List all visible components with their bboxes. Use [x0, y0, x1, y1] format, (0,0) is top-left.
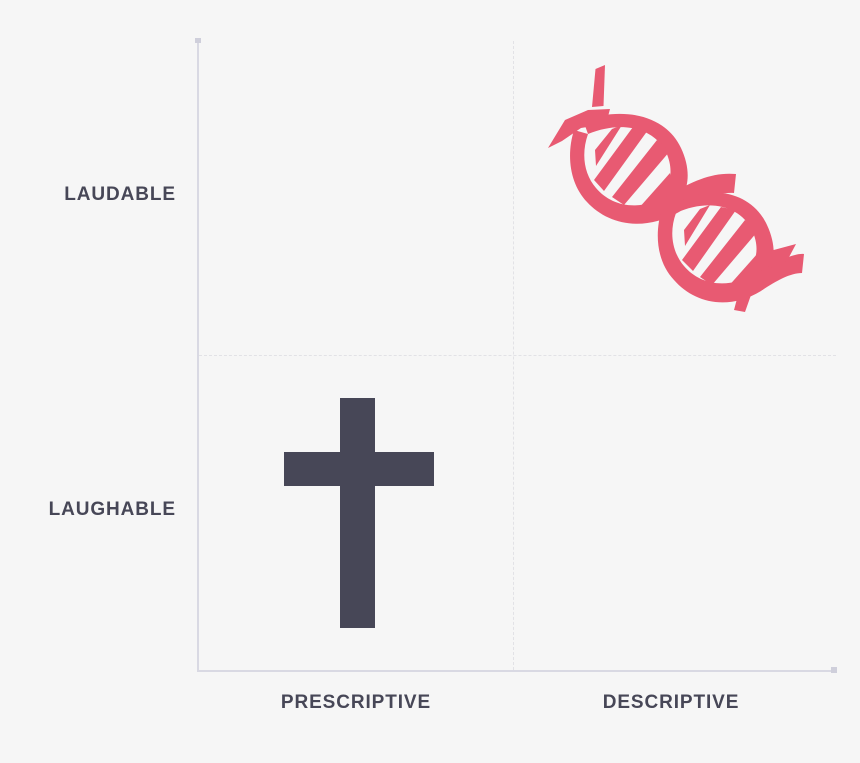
x-axis-label-prescriptive: PRESCRIPTIVE: [265, 693, 447, 712]
y-axis-line: [197, 40, 199, 672]
y-axis-label-laudable: LAUDABLE: [64, 185, 176, 204]
cross-icon: [284, 398, 434, 628]
x-axis-cap: [831, 667, 837, 673]
x-axis-label-descriptive: DESCRIPTIVE: [589, 693, 753, 712]
horizontal-quadrant-divider: [199, 355, 836, 356]
y-axis-cap: [195, 38, 201, 43]
vertical-quadrant-divider: [513, 41, 514, 670]
quadrant-matrix-chart: LAUDABLE LAUGHABLE PRESCRIPTIVE DESCRIPT…: [0, 0, 860, 763]
y-axis-label-laughable: LAUGHABLE: [49, 500, 176, 519]
cross-horizontal-bar: [284, 452, 434, 486]
cross-vertical-bar: [340, 398, 375, 628]
x-axis-line: [197, 670, 836, 672]
dna-helix-icon: [548, 62, 804, 312]
